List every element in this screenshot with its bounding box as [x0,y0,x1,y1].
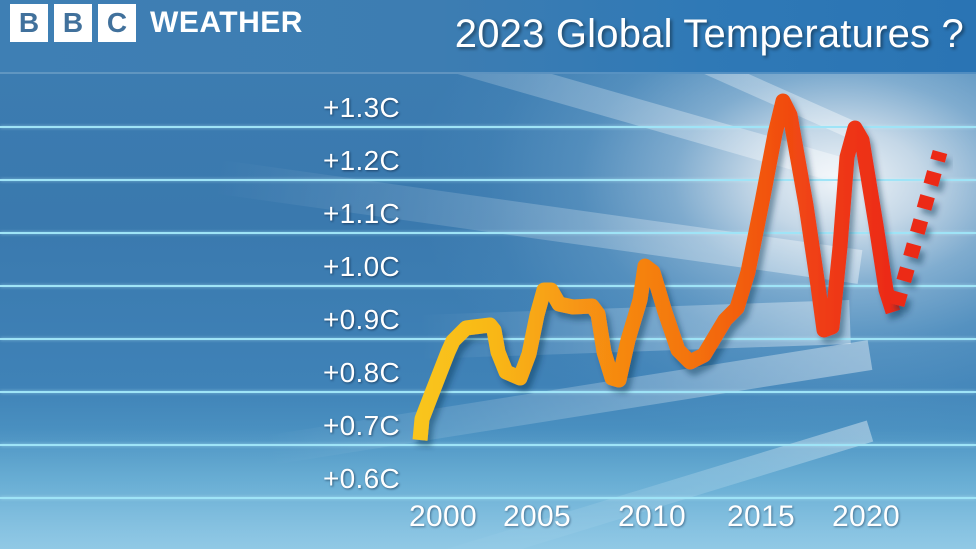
bbc-logo-word: WEATHER [150,6,303,40]
page-title: 2023 Global Temperatures ? [455,12,964,57]
x-axis-labels: 20002005201020152020 [0,0,976,549]
x-axis-tick-label: 2020 [832,500,900,534]
x-axis-tick-label: 2015 [727,500,795,534]
x-axis-tick-label: 2000 [409,500,477,534]
bbc-logo-letter-2: B [54,4,92,42]
bbc-weather-logo: B B C WEATHER [10,4,303,42]
x-axis-tick-label: 2010 [618,500,686,534]
bbc-logo-letter-1: B [10,4,48,42]
x-axis-tick-label: 2005 [503,500,571,534]
bbc-weather-graphic: +1.3C+1.2C+1.1C+1.0C+0.9C+0.8C+0.7C+0.6C… [0,0,976,549]
bbc-logo-letter-3: C [98,4,136,42]
